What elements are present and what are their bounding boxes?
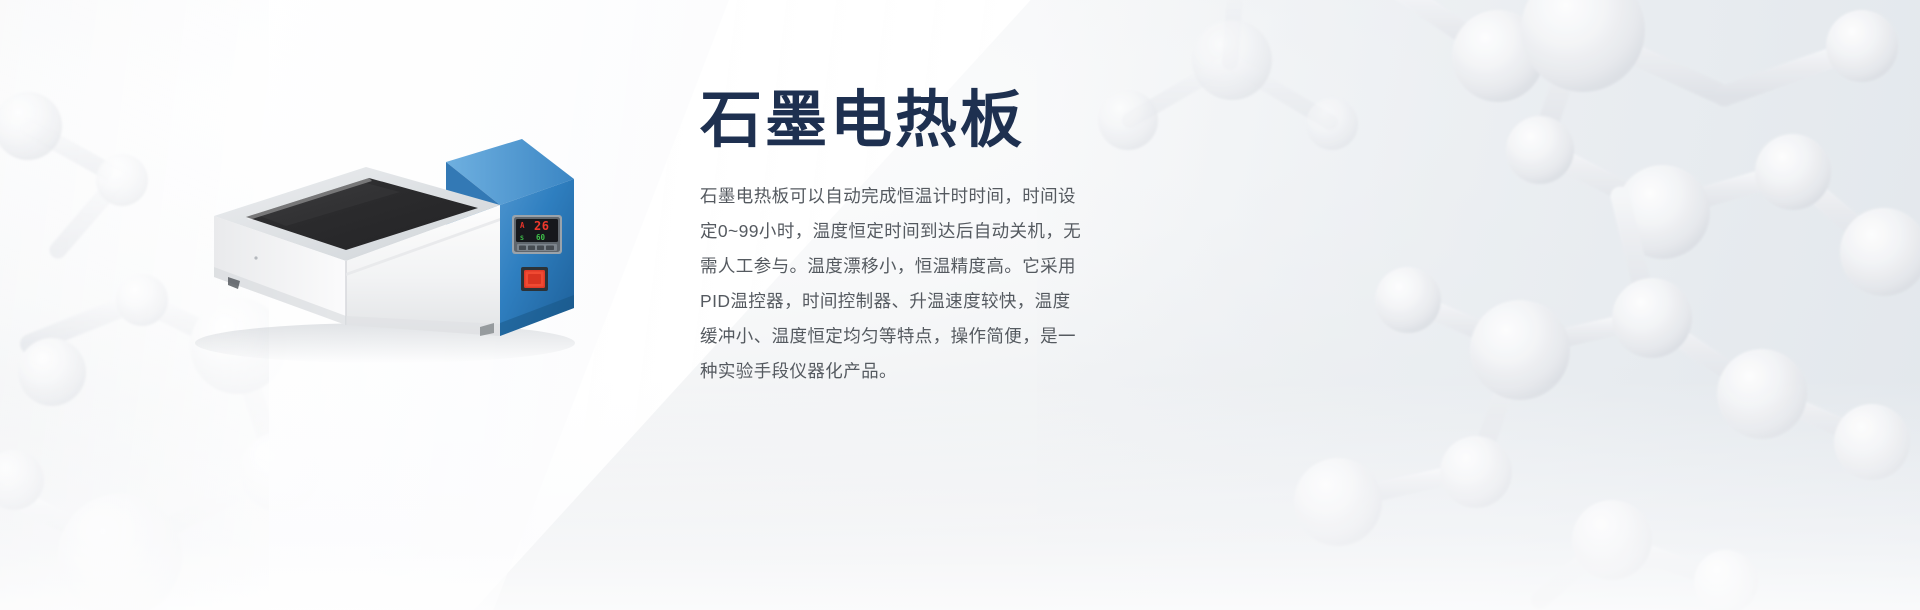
page-title: 石墨电热板 bbox=[700, 88, 1100, 155]
description-line: 需人工参与。温度漂移小，恒温精度高。它采用 bbox=[700, 249, 1052, 284]
svg-text:A: A bbox=[520, 221, 525, 230]
description-line: 缓冲小、温度恒定均匀等特点，操作简便，是一 bbox=[700, 319, 1052, 354]
background-bottom-fade bbox=[0, 378, 1920, 610]
description-line: 石墨电热板可以自动完成恒温计时时间，时间设 bbox=[700, 179, 1052, 214]
product-image-graphite-hot-plate: A 26 S 60 bbox=[150, 95, 620, 385]
product-description: 石墨电热板可以自动完成恒温计时时间，时间设 定0~99小时，温度恒定时间到达后自… bbox=[700, 179, 1052, 389]
description-line: 种实验手段仪器化产品。 bbox=[700, 354, 1052, 389]
svg-text:60: 60 bbox=[536, 233, 546, 242]
svg-text:S: S bbox=[520, 234, 524, 242]
svg-text:26: 26 bbox=[534, 219, 549, 233]
product-banner: A 26 S 60 bbox=[0, 0, 1920, 610]
banner-copy: 石墨电热板 石墨电热板可以自动完成恒温计时时间，时间设 定0~99小时，温度恒定… bbox=[700, 88, 1100, 389]
description-line: 定0~99小时，温度恒定时间到达后自动关机，无 bbox=[700, 214, 1052, 249]
description-line: PID温控器，时间控制器、升温速度较快，温度 bbox=[700, 284, 1052, 319]
